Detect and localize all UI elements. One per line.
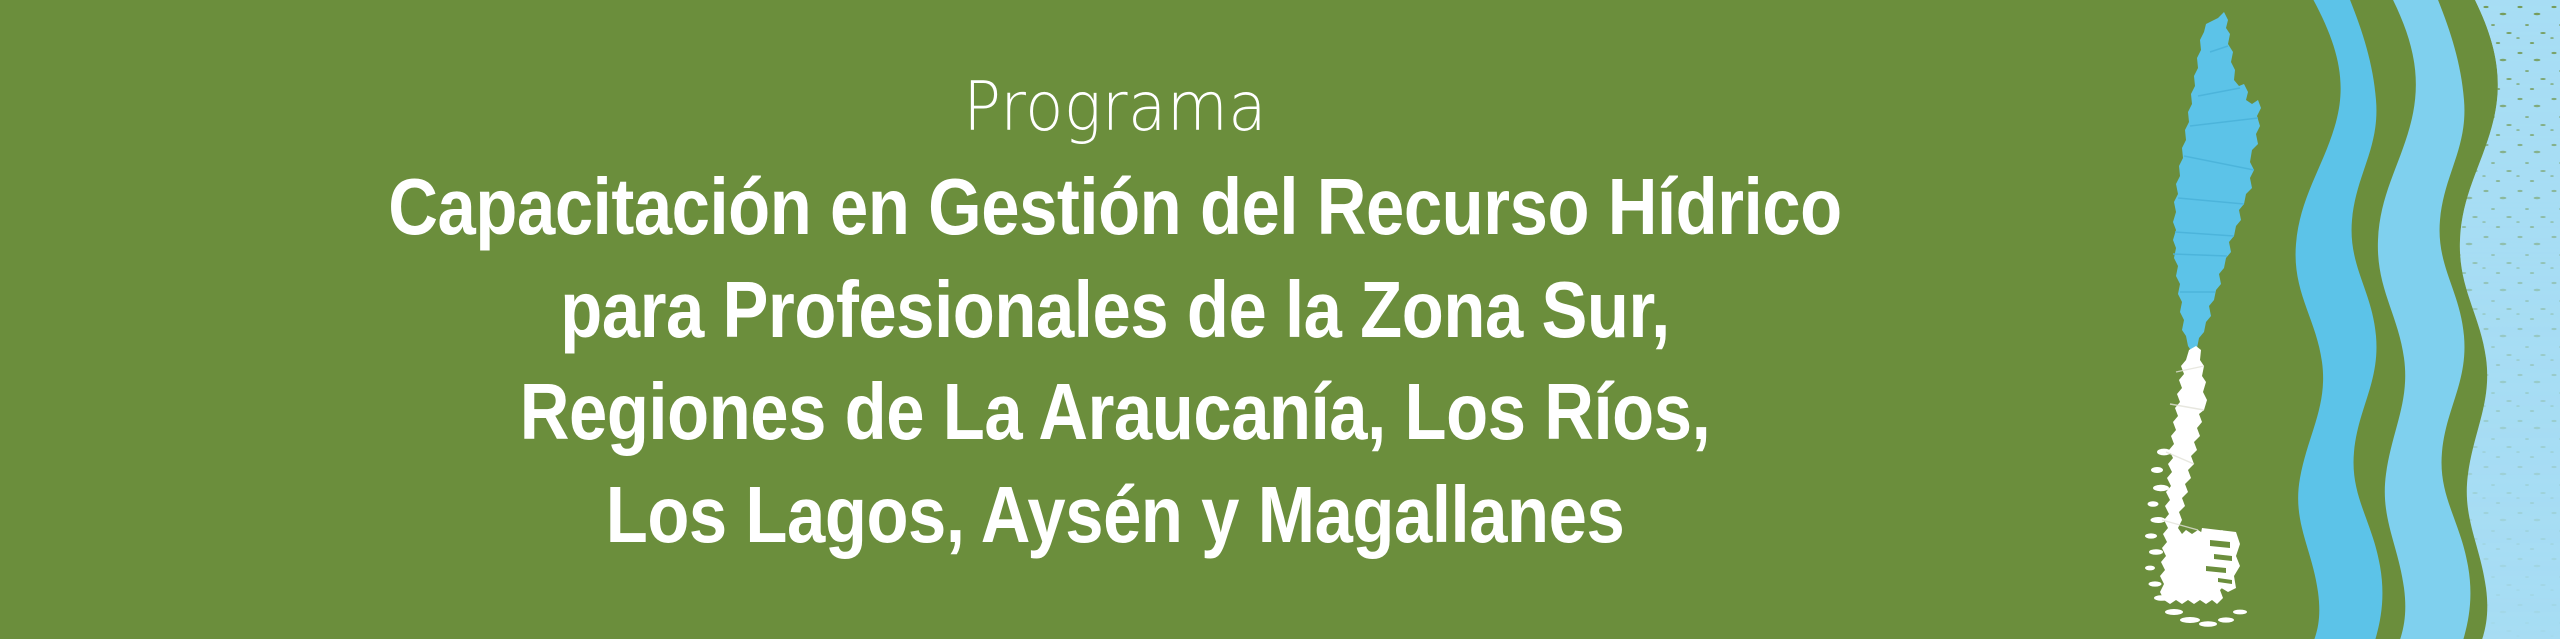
- banner-headline: Capacitación en Gestión del Recurso Hídr…: [270, 156, 1960, 566]
- headline-line-4: Los Lagos, Aysén y Magallanes: [388, 464, 1841, 566]
- chile-map-magallanes-block: [2198, 528, 2240, 592]
- headline-line-1: Capacitación en Gestión del Recurso Hídr…: [388, 156, 1841, 258]
- wave-band-2: [2378, 0, 2471, 639]
- headline-line-2: para Profesionales de la Zona Sur,: [388, 259, 1841, 361]
- program-banner: Programa Capacitación en Gestión del Rec…: [0, 0, 2560, 639]
- banner-graphic: [2140, 0, 2560, 639]
- wave-band-1: [2296, 0, 2383, 639]
- banner-kicker: Programa: [963, 73, 1267, 142]
- wave-band-3: [2460, 0, 2560, 639]
- headline-line-3: Regiones de La Araucanía, Los Ríos,: [388, 361, 1841, 463]
- graphic-svg: [2140, 0, 2560, 639]
- banner-text-block: Programa Capacitación en Gestión del Rec…: [0, 0, 2230, 639]
- chile-map: [2145, 12, 2261, 627]
